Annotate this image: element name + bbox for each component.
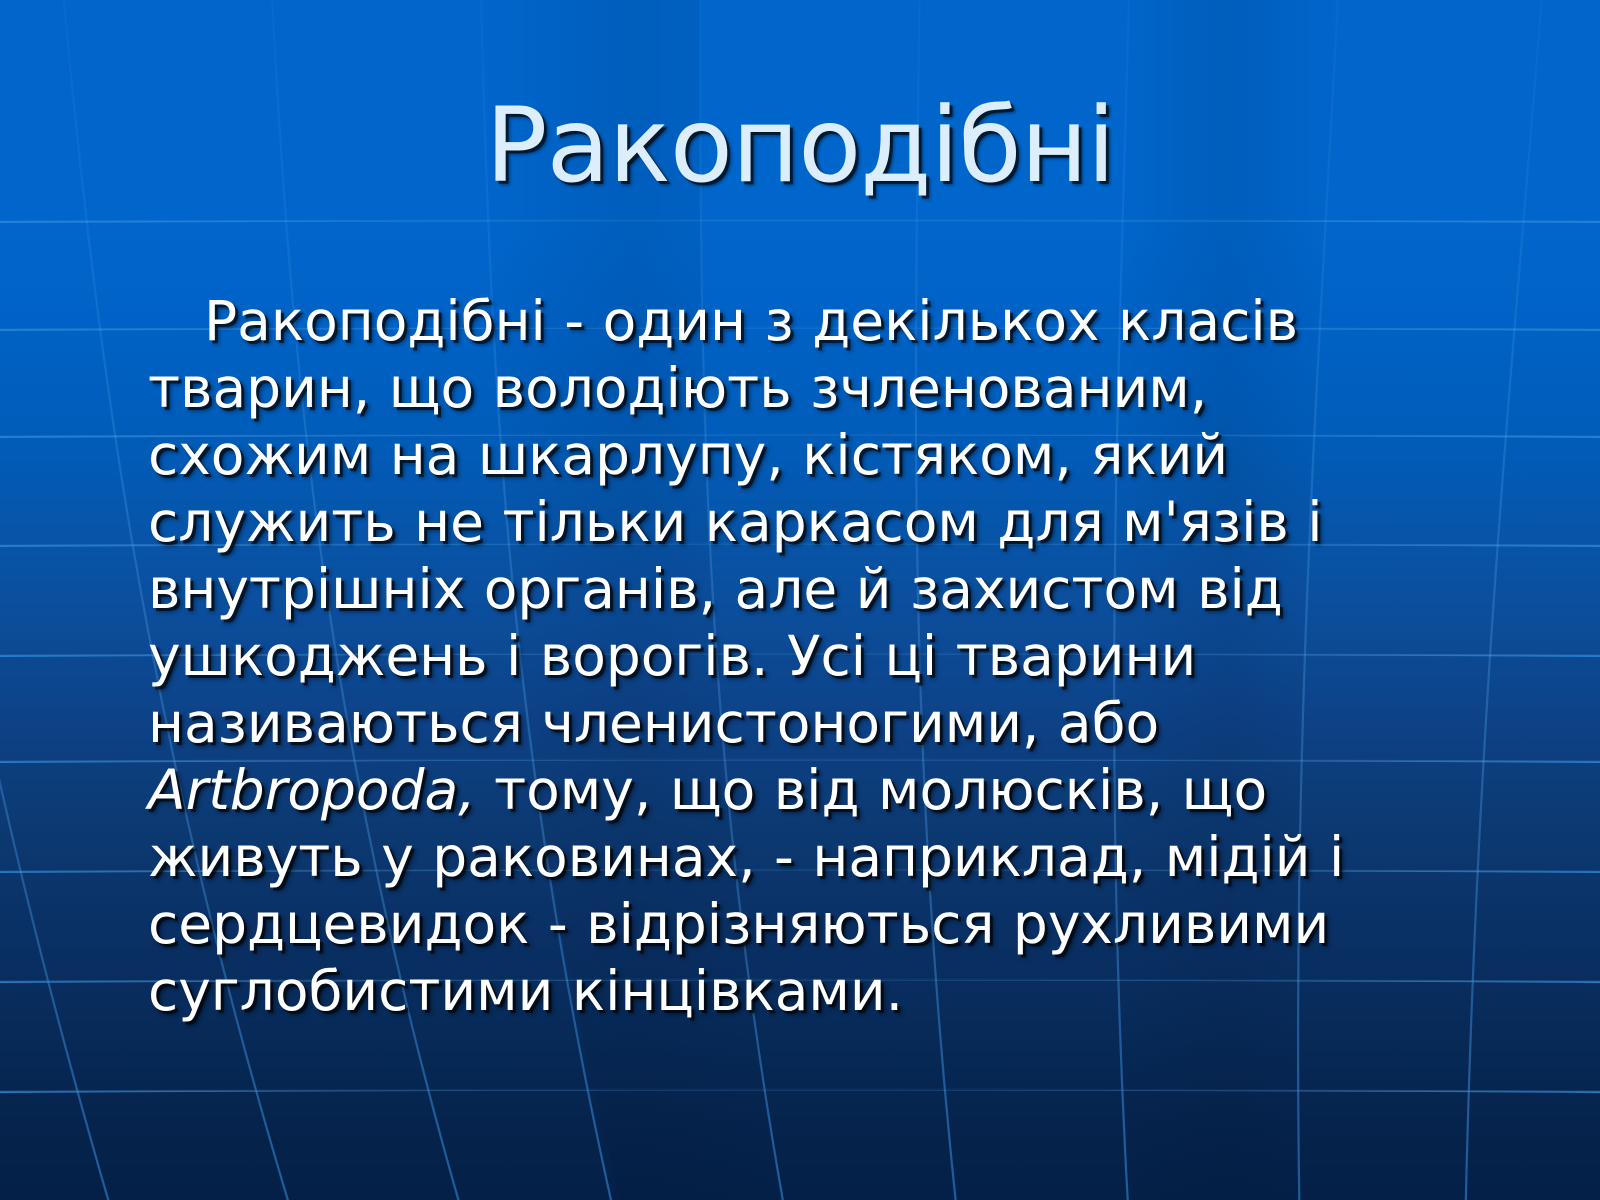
slide-body-text: Ракоподібні - один з декількох класів тв… [148, 288, 1448, 1025]
body-segment-1: Ракоподібні - один з декількох класів тв… [148, 289, 1323, 755]
slide-title: Ракоподібні [0, 92, 1600, 200]
body-segment-scientific-name: Artbropoda, [148, 758, 476, 822]
presentation-slide: Ракоподібні Ракоподібні - один з декільк… [0, 0, 1600, 1200]
